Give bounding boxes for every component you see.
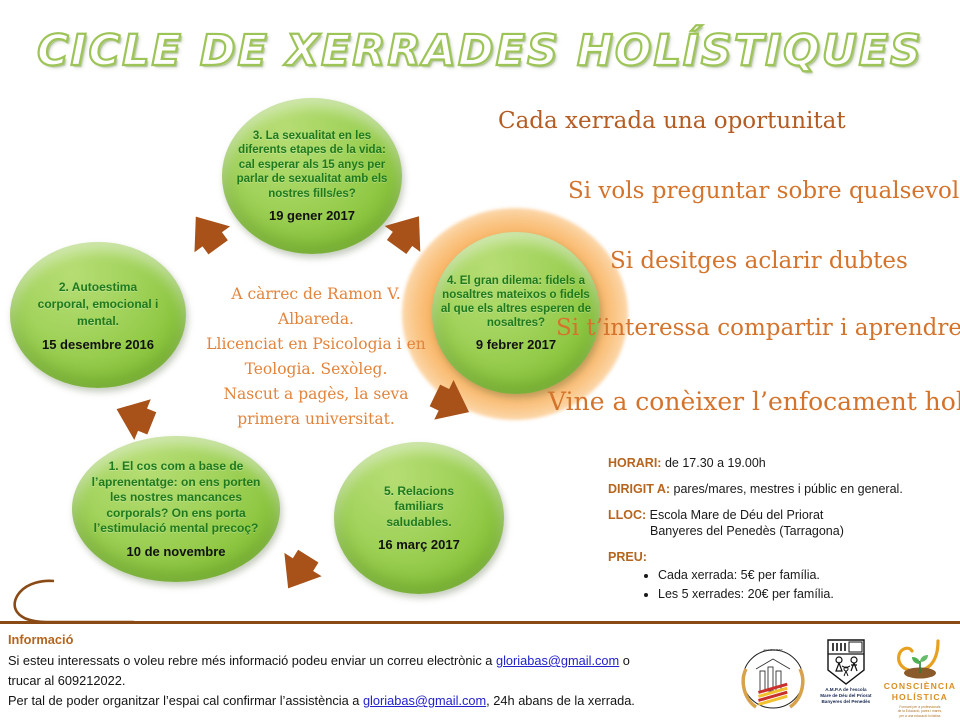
footer-line-1: Si esteu interessats o voleu rebre més i… — [8, 651, 734, 671]
page-title: CICLE DE XERRADES HOLÍSTIQUES — [0, 26, 960, 76]
flow-arrow-icon — [260, 537, 333, 607]
detail-dirigit-value: pares/mares, mestres i públic en general… — [674, 482, 903, 496]
footer-line-3-text-a: Per tal de poder organitzar l’espai cal … — [8, 693, 363, 708]
ampa-logo: A.M.P.A de l’escola Mare de Déu del Prio… — [814, 638, 878, 716]
talk-bubble-5-text: 5. Relacions familiars saludables. — [334, 484, 504, 531]
svg-text:AJUNTAMENT: AJUNTAMENT — [763, 648, 783, 652]
footer-divider — [0, 621, 960, 624]
detail-preu-label: PREU: — [608, 550, 647, 564]
footer-title: Informació — [8, 630, 734, 650]
slogan-3: Si desitges aclarir dubtes — [610, 248, 908, 274]
footer-info: Informació Si esteu interessats o voleu … — [8, 630, 734, 711]
footer-line-3: Per tal de poder organitzar l’espai cal … — [8, 691, 734, 711]
slogan-1: Cada xerrada una oportunitat — [498, 108, 846, 134]
talk-bubble-2[interactable]: 2. Autoestima corporal, emocional i ment… — [10, 242, 186, 388]
speaker-bio-line-2: Albareda. — [205, 307, 427, 332]
talk-bubble-4-date: 9 febrer 2017 — [476, 337, 556, 352]
detail-lloc-value-2: Banyeres del Penedès (Tarragona) — [650, 523, 954, 539]
detail-lloc-value: Escola Mare de Déu del Priorat — [650, 508, 824, 522]
ajuntament-logo: AJUNTAMENT — [738, 639, 808, 715]
slogan-2: Si vols preguntar sobre qualsevol tema — [568, 178, 960, 204]
speaker-bio-line-6: primera universitat. — [205, 407, 427, 432]
detail-preu-list: Cada xerrada: 5€ per família. Les 5 xerr… — [608, 567, 954, 602]
email-link[interactable]: gloriabas@gmail.com — [363, 693, 486, 708]
footer-line-3-text-b: , 24h abans de la xerrada. — [486, 693, 635, 708]
detail-horari: HORARI: de 17.30 a 19.00h — [608, 455, 954, 471]
footer-line-1-text-b: o — [619, 653, 630, 668]
detail-lloc: LLOC: Escola Mare de Déu del Priorat Ban… — [608, 507, 954, 539]
list-item: Cada xerrada: 5€ per família. — [658, 567, 954, 583]
talk-bubble-2-date: 15 desembre 2016 — [42, 337, 154, 352]
holistica-logo: CONSCIÈNCIA HOLÍSTICA Formant per a prof… — [884, 637, 956, 717]
slogan-5: Vine a conèixer l’enfocament holístic — [548, 387, 960, 416]
event-details: HORARI: de 17.30 a 19.00h DIRIGIT A: par… — [608, 455, 954, 612]
talk-bubble-5-date: 16 març 2017 — [378, 537, 460, 552]
detail-preu: PREU: Cada xerrada: 5€ per família. Les … — [608, 549, 954, 602]
speaker-bio-line-5: Nascut a pagès, la seva — [205, 382, 427, 407]
ampa-logo-text: A.M.P.A de l’escola Mare de Déu del Prio… — [814, 687, 878, 705]
talk-bubble-3-date: 19 gener 2017 — [269, 208, 355, 223]
speaker-bio: A càrrec de Ramon V. Albareda. Llicencia… — [205, 282, 427, 432]
talk-bubble-1[interactable]: 1. El cos com a base de l’aprenentatge: … — [72, 436, 280, 582]
email-link[interactable]: gloriabas@gmail.com — [496, 653, 619, 668]
detail-lloc-label: LLOC: — [608, 508, 646, 522]
holistica-logo-line-2: HOLÍSTICA — [884, 692, 956, 703]
talk-bubble-2-text: 2. Autoestima corporal, emocional i ment… — [10, 279, 186, 330]
talk-bubble-3-text: 3. La sexualitat en les diferents etapes… — [222, 129, 402, 202]
speaker-bio-line-1: A càrrec de Ramon V. — [205, 282, 427, 307]
talk-bubble-1-text: 1. El cos com a base de l’aprenentatge: … — [72, 459, 280, 537]
list-item: Les 5 xerrades: 20€ per família. — [658, 586, 954, 602]
detail-dirigit-label: DIRIGIT A: — [608, 482, 670, 496]
detail-dirigit: DIRIGIT A: pares/mares, mestres i públic… — [608, 481, 954, 497]
footer-divider-curve — [6, 566, 136, 626]
holistica-logo-tagline: Formant per a professionals de la Educac… — [884, 705, 956, 718]
poster-canvas: CICLE DE XERRADES HOLÍSTIQUES 3. La sexu… — [0, 0, 960, 720]
footer-line-2: trucar al 609212022. — [8, 671, 734, 691]
holistica-logo-line-1: CONSCIÈNCIA — [884, 681, 956, 692]
talk-bubble-5[interactable]: 5. Relacions familiars saludables. 16 ma… — [334, 442, 504, 594]
speaker-bio-line-3: Llicenciat en Psicologia i en — [205, 332, 427, 357]
detail-horari-label: HORARI: — [608, 456, 661, 470]
talk-bubble-4[interactable]: 4. El gran dilema: fidels a nosaltres ma… — [432, 232, 600, 394]
detail-horari-value: de 17.30 a 19.00h — [665, 456, 766, 470]
footer-line-1-text-a: Si esteu interessats o voleu rebre més i… — [8, 653, 496, 668]
slogan-4: Si t’interessa compartir i aprendre — [556, 315, 960, 341]
talk-bubble-1-date: 10 de novembre — [127, 544, 226, 559]
speaker-bio-line-4: Teologia. Sexòleg. — [205, 357, 427, 382]
logo-row: AJUNTAMENT — [738, 636, 956, 718]
